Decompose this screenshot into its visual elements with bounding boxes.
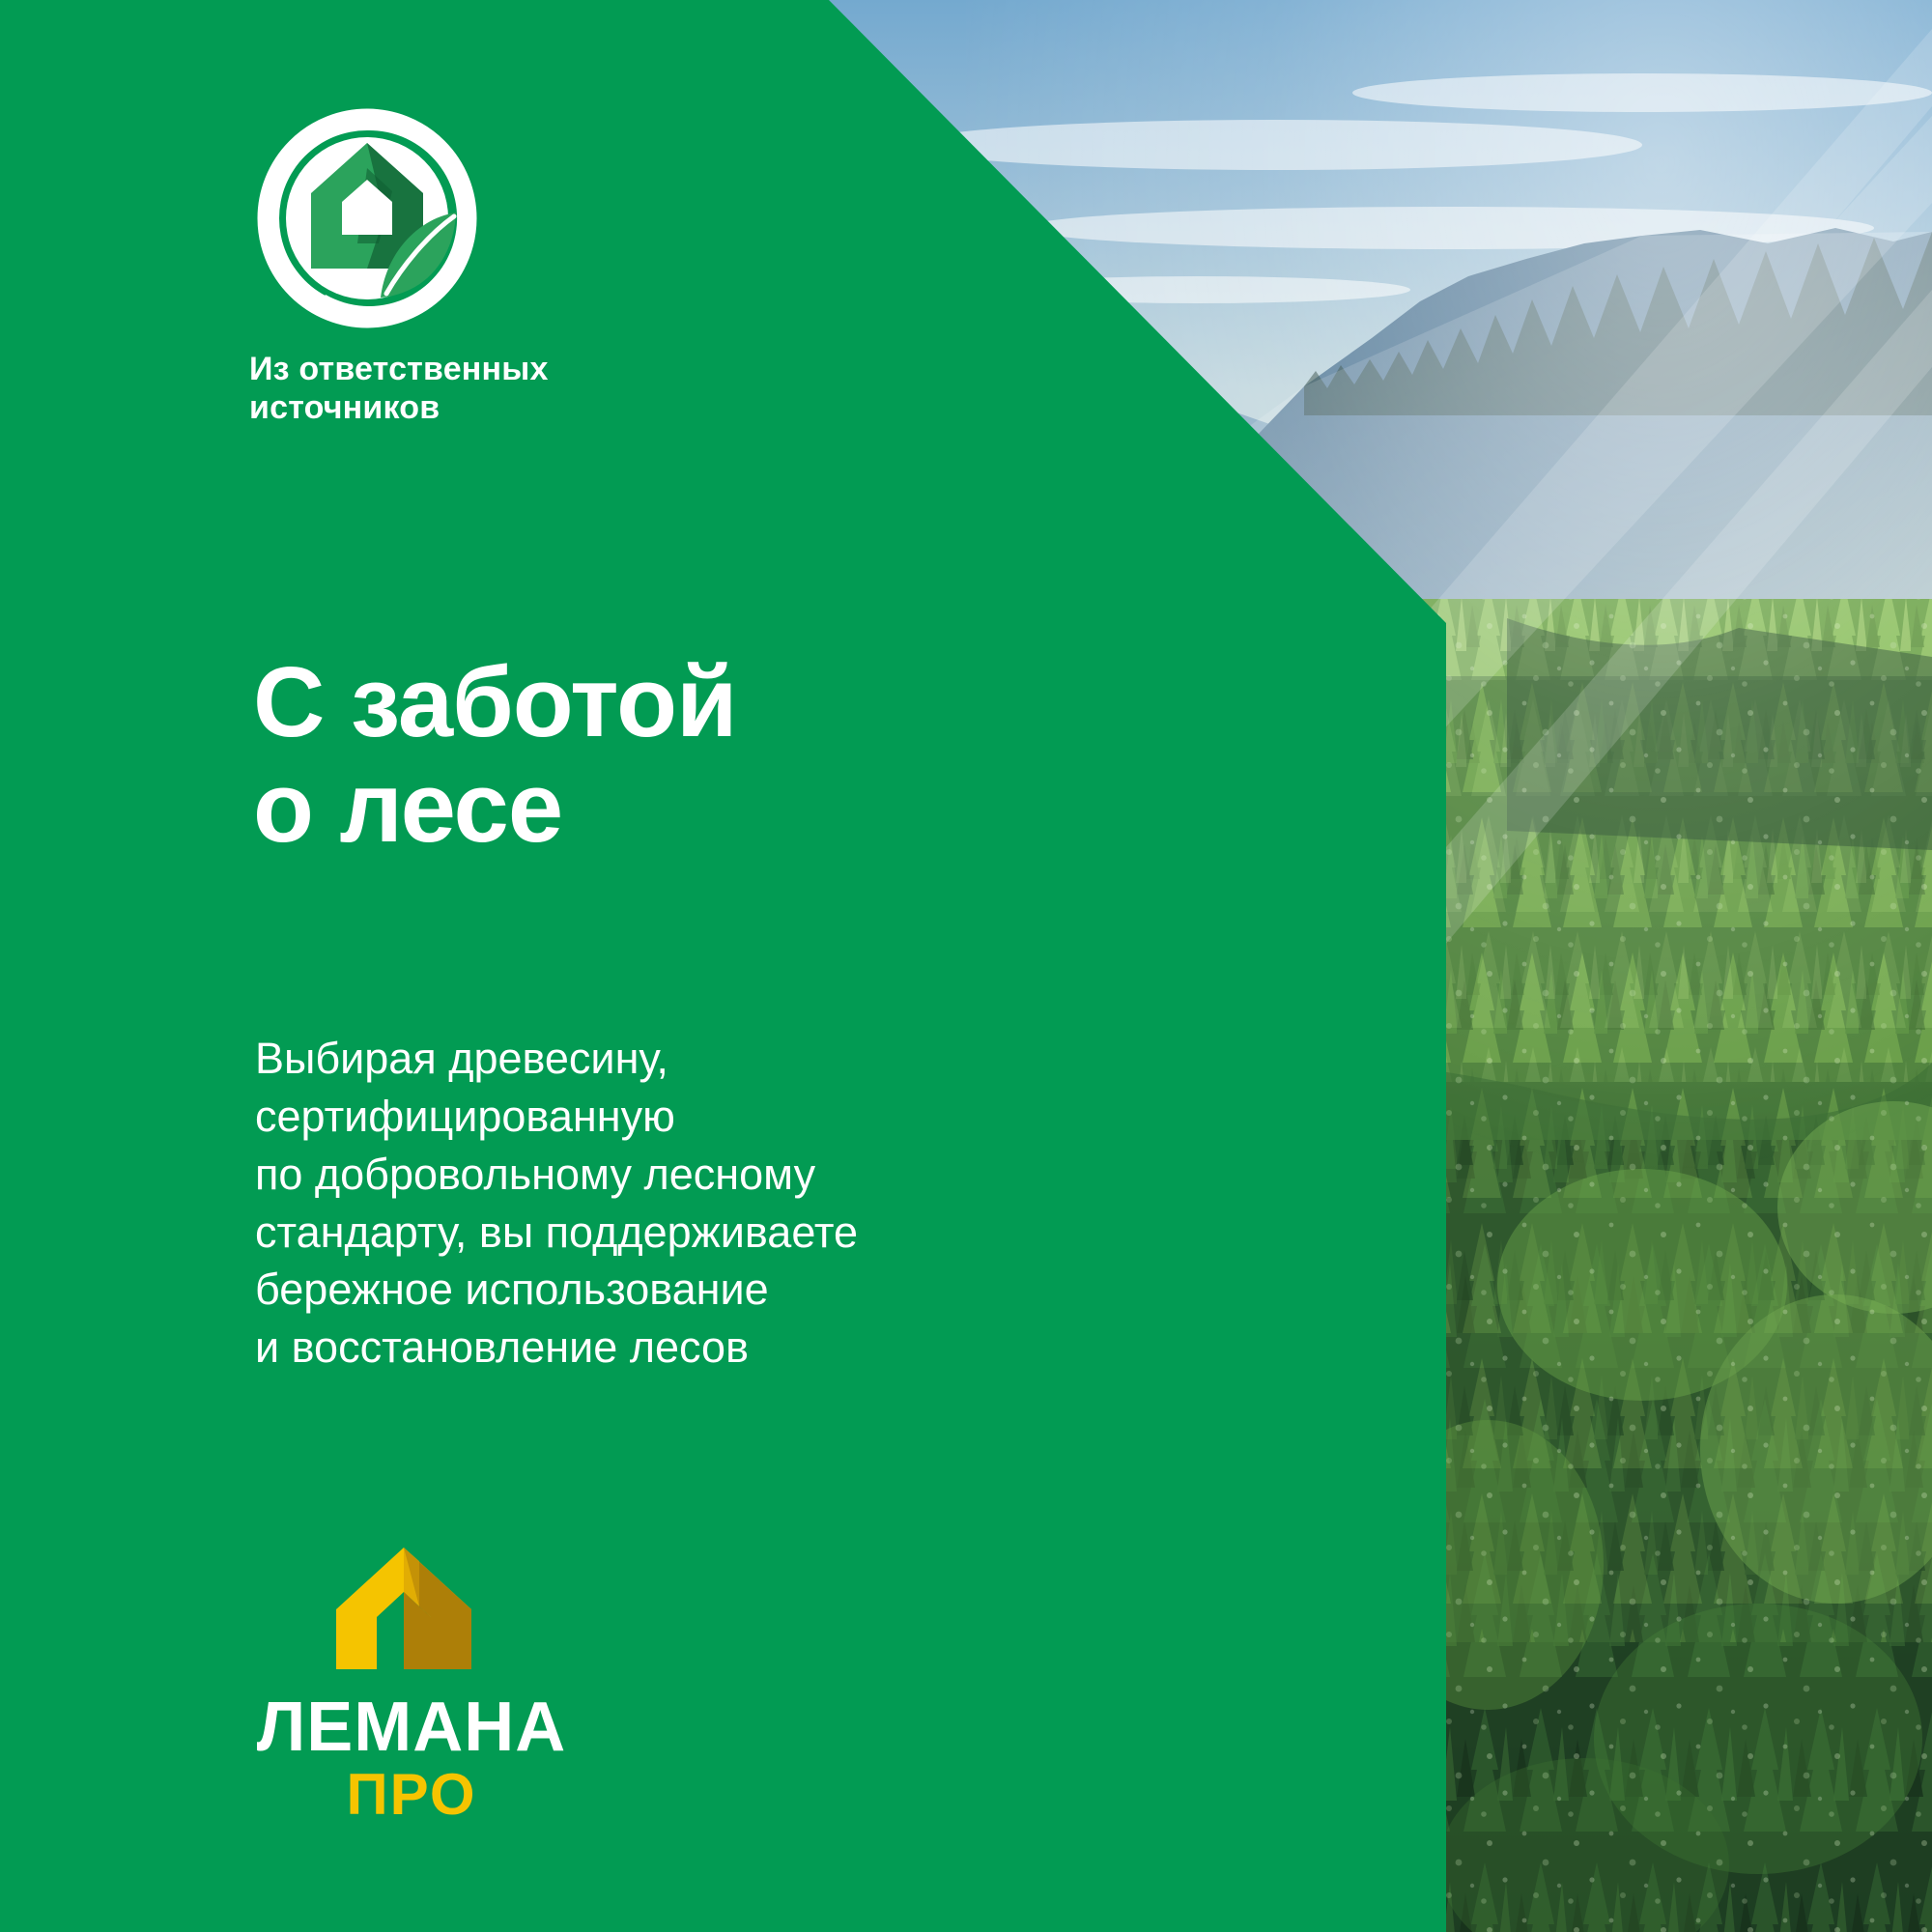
- lemana-pro-wordmark: ЛЕМАНА ПРО: [238, 1690, 585, 1826]
- body-paragraph: Выбирая древесину, сертифицированную по …: [255, 1030, 858, 1377]
- house-leaf-circle-icon: [257, 108, 477, 328]
- lemana-house-roof-icon: [327, 1542, 481, 1677]
- eco-badge-label: Из ответственных источников: [249, 350, 597, 427]
- page-title: С заботой о лесе: [253, 649, 736, 860]
- brand-suffix-text: ПРО: [346, 1762, 476, 1826]
- lemana-pro-logo: ЛЕМАНА ПРО: [238, 1542, 643, 1826]
- eco-certification-badge: Из ответственных источников: [249, 108, 694, 427]
- brand-name-text: ЛЕМАНА: [257, 1690, 567, 1766]
